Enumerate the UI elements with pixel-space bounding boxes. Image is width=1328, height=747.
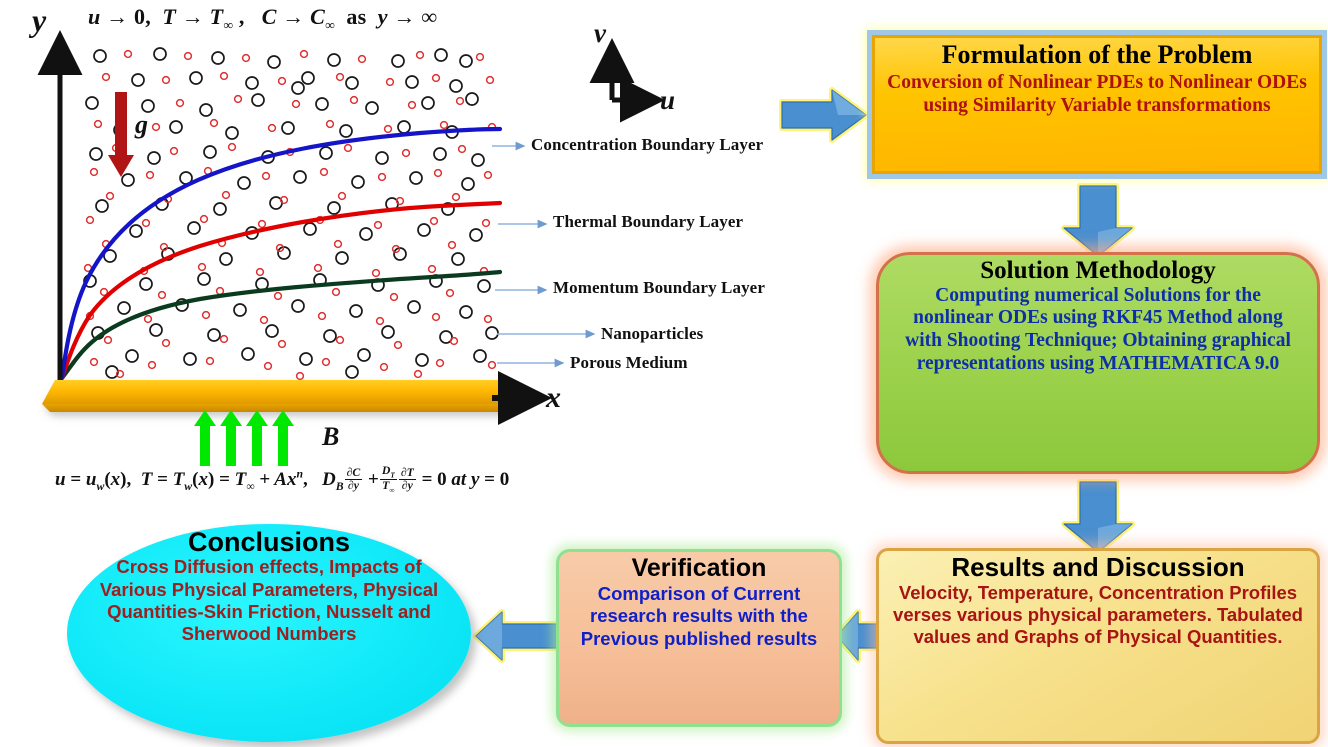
label-concentration-boundary-layer: Concentration Boundary Layer xyxy=(531,135,763,155)
arrow-solution-to-results xyxy=(1046,478,1150,556)
formulation-body: Conversion of Nonlinear PDEs to Nonlinea… xyxy=(885,71,1309,118)
verification-body: Comparison of Current research results w… xyxy=(568,583,830,652)
arrow-verification-to-conclusions xyxy=(470,604,566,668)
gravity-label: g xyxy=(135,110,148,140)
flowchart-box-solution-methodology[interactable]: Solution Methodology Computing numerical… xyxy=(876,252,1320,474)
label-porous-medium: Porous Medium xyxy=(570,353,688,373)
verification-heading: Verification xyxy=(632,555,767,583)
results-body: Velocity, Temperature, Concentration Pro… xyxy=(891,582,1305,649)
x-axis-label: x xyxy=(546,381,561,415)
flowchart-box-conclusions[interactable]: Conclusions Cross Diffusion effects, Imp… xyxy=(67,524,471,742)
flowchart-box-verification[interactable]: Verification Comparison of Current resea… xyxy=(556,549,842,727)
label-nanoparticles: Nanoparticles xyxy=(601,324,703,344)
v-axis-label: v xyxy=(594,18,606,49)
conclusions-heading: Conclusions xyxy=(188,528,350,556)
label-thermal-boundary-layer: Thermal Boundary Layer xyxy=(553,212,743,232)
leader-lines xyxy=(492,146,594,363)
results-heading: Results and Discussion xyxy=(951,553,1244,582)
velocity-axes-key xyxy=(612,48,655,100)
momentum-boundary-layer-curve xyxy=(62,272,500,378)
wall-boundary-condition-equation: u = uw(x), T = Tw(x) = T∞ + Axn, DB∂C∂y … xyxy=(55,466,509,495)
label-momentum-boundary-layer: Momentum Boundary Layer xyxy=(553,278,765,298)
flow-field-svg xyxy=(0,0,830,530)
wall-plate xyxy=(42,380,510,412)
nanoparticle-cluster xyxy=(84,48,498,378)
conclusions-body: Cross Diffusion effects, Impacts of Vari… xyxy=(97,556,441,645)
magnetic-field-label: B xyxy=(322,422,339,452)
diagram-canvas: u → 0, T → T∞ , C → C∞ as y → ∞ xyxy=(0,0,1328,747)
arrow-diagram-to-formulation xyxy=(776,84,876,146)
magnetic-field-arrows xyxy=(194,410,294,466)
y-axis-label: y xyxy=(32,2,46,39)
flowchart-box-results-and-discussion[interactable]: Results and Discussion Velocity, Tempera… xyxy=(876,548,1320,744)
flowchart-box-formulation[interactable]: Formulation of the Problem Conversion of… xyxy=(872,35,1322,174)
arrow-formulation-to-solution xyxy=(1046,180,1150,260)
formulation-heading: Formulation of the Problem xyxy=(942,41,1253,70)
gravity-arrow xyxy=(108,92,134,177)
physical-model-diagram: u → 0, T → T∞ , C → C∞ as y → ∞ xyxy=(0,0,830,530)
solution-body: Computing numerical Solutions for the no… xyxy=(893,285,1303,376)
u-axis-label: u xyxy=(660,85,675,116)
solution-heading: Solution Methodology xyxy=(980,257,1215,285)
